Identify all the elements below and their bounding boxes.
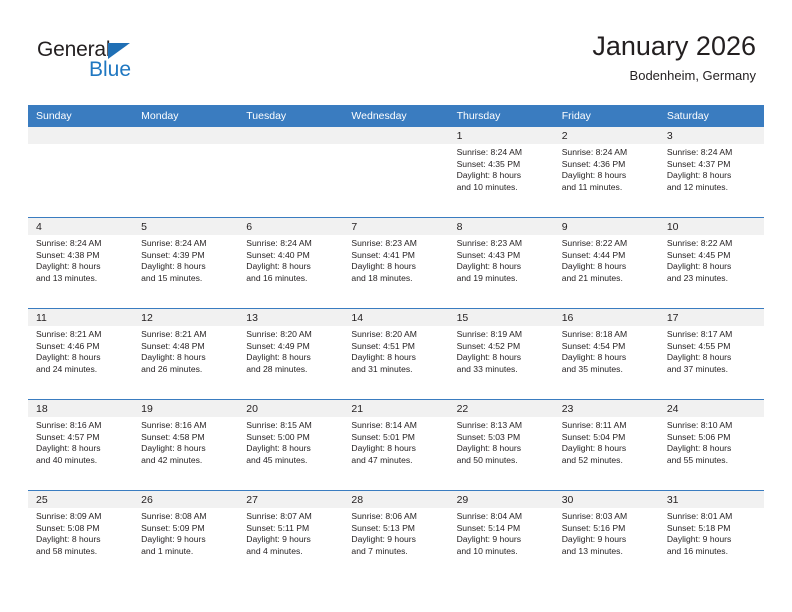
day-details: Sunrise: 8:06 AMSunset: 5:13 PMDaylight:… [343,508,448,557]
sunset-time: Sunset: 5:06 PM [667,432,758,444]
day-cell-inner: 16Sunrise: 8:18 AMSunset: 4:54 PMDayligh… [554,309,659,399]
sunrise-time: Sunrise: 8:20 AM [351,329,442,341]
day-cell-inner: 8Sunrise: 8:23 AMSunset: 4:43 PMDaylight… [449,218,554,308]
calendar-day-cell[interactable]: 26Sunrise: 8:08 AMSunset: 5:09 PMDayligh… [133,491,238,582]
day-number: 12 [133,309,238,326]
daylight-line-1: Daylight: 8 hours [141,261,232,273]
sunrise-time: Sunrise: 8:24 AM [562,147,653,159]
day-number: 30 [554,491,659,508]
day-cell-inner [238,127,343,217]
sunrise-time: Sunrise: 8:24 AM [457,147,548,159]
day-details: Sunrise: 8:24 AMSunset: 4:38 PMDaylight:… [28,235,133,284]
day-cell-inner: 23Sunrise: 8:11 AMSunset: 5:04 PMDayligh… [554,400,659,490]
daylight-line-1: Daylight: 8 hours [457,443,548,455]
sunset-time: Sunset: 5:16 PM [562,523,653,535]
day-number: 19 [133,400,238,417]
calendar-day-cell[interactable]: 27Sunrise: 8:07 AMSunset: 5:11 PMDayligh… [238,491,343,582]
calendar-cell-empty [133,127,238,218]
daylight-line-1: Daylight: 8 hours [667,352,758,364]
sunrise-time: Sunrise: 8:03 AM [562,511,653,523]
daylight-line-1: Daylight: 8 hours [246,261,337,273]
calendar-day-cell[interactable]: 16Sunrise: 8:18 AMSunset: 4:54 PMDayligh… [554,309,659,400]
daylight-line-2: and 50 minutes. [457,455,548,467]
day-cell-inner: 19Sunrise: 8:16 AMSunset: 4:58 PMDayligh… [133,400,238,490]
day-details: Sunrise: 8:11 AMSunset: 5:04 PMDaylight:… [554,417,659,466]
day-details: Sunrise: 8:21 AMSunset: 4:48 PMDaylight:… [133,326,238,375]
sunset-time: Sunset: 4:57 PM [36,432,127,444]
day-details: Sunrise: 8:09 AMSunset: 5:08 PMDaylight:… [28,508,133,557]
calendar-cell-empty [343,127,448,218]
day-details: Sunrise: 8:23 AMSunset: 4:43 PMDaylight:… [449,235,554,284]
calendar-day-cell[interactable]: 22Sunrise: 8:13 AMSunset: 5:03 PMDayligh… [449,400,554,491]
weekday-header-monday: Monday [133,105,238,127]
calendar-day-cell[interactable]: 13Sunrise: 8:20 AMSunset: 4:49 PMDayligh… [238,309,343,400]
day-cell-inner: 10Sunrise: 8:22 AMSunset: 4:45 PMDayligh… [659,218,764,308]
daylight-line-1: Daylight: 8 hours [351,261,442,273]
day-cell-inner [343,127,448,217]
daylight-line-2: and 7 minutes. [351,546,442,558]
day-cell-inner: 29Sunrise: 8:04 AMSunset: 5:14 PMDayligh… [449,491,554,581]
calendar-body: 1Sunrise: 8:24 AMSunset: 4:35 PMDaylight… [28,127,764,581]
day-cell-inner: 2Sunrise: 8:24 AMSunset: 4:36 PMDaylight… [554,127,659,217]
sunrise-time: Sunrise: 8:17 AM [667,329,758,341]
day-cell-inner: 17Sunrise: 8:17 AMSunset: 4:55 PMDayligh… [659,309,764,399]
calendar-header-row: Sunday Monday Tuesday Wednesday Thursday… [28,105,764,127]
sunrise-time: Sunrise: 8:24 AM [667,147,758,159]
day-number: 24 [659,400,764,417]
sunrise-time: Sunrise: 8:11 AM [562,420,653,432]
sunset-time: Sunset: 4:35 PM [457,159,548,171]
day-number: 14 [343,309,448,326]
day-number: 25 [28,491,133,508]
day-details: Sunrise: 8:16 AMSunset: 4:57 PMDaylight:… [28,417,133,466]
calendar-day-cell[interactable]: 5Sunrise: 8:24 AMSunset: 4:39 PMDaylight… [133,218,238,309]
calendar-day-cell[interactable]: 10Sunrise: 8:22 AMSunset: 4:45 PMDayligh… [659,218,764,309]
daylight-line-1: Daylight: 8 hours [667,443,758,455]
page-subtitle: Bodenheim, Germany [592,67,756,85]
weekday-header-wednesday: Wednesday [343,105,448,127]
daylight-line-1: Daylight: 8 hours [457,261,548,273]
daylight-line-1: Daylight: 8 hours [351,443,442,455]
daylight-line-2: and 31 minutes. [351,364,442,376]
sunset-time: Sunset: 4:58 PM [141,432,232,444]
calendar-day-cell[interactable]: 4Sunrise: 8:24 AMSunset: 4:38 PMDaylight… [28,218,133,309]
day-number [238,127,343,144]
day-cell-inner: 26Sunrise: 8:08 AMSunset: 5:09 PMDayligh… [133,491,238,581]
daylight-line-1: Daylight: 8 hours [141,352,232,364]
page-title: January 2026 [592,30,756,62]
day-number [28,127,133,144]
day-number: 15 [449,309,554,326]
day-cell-inner: 25Sunrise: 8:09 AMSunset: 5:08 PMDayligh… [28,491,133,581]
day-cell-inner: 12Sunrise: 8:21 AMSunset: 4:48 PMDayligh… [133,309,238,399]
sunrise-time: Sunrise: 8:18 AM [562,329,653,341]
calendar-day-cell[interactable]: 14Sunrise: 8:20 AMSunset: 4:51 PMDayligh… [343,309,448,400]
daylight-line-2: and 12 minutes. [667,182,758,194]
day-cell-inner: 14Sunrise: 8:20 AMSunset: 4:51 PMDayligh… [343,309,448,399]
sunrise-time: Sunrise: 8:24 AM [246,238,337,250]
calendar-day-cell[interactable]: 24Sunrise: 8:10 AMSunset: 5:06 PMDayligh… [659,400,764,491]
title-block: January 2026 Bodenheim, Germany [592,30,756,85]
sunrise-time: Sunrise: 8:23 AM [457,238,548,250]
daylight-line-2: and 1 minute. [141,546,232,558]
sunrise-time: Sunrise: 8:13 AM [457,420,548,432]
sunset-time: Sunset: 5:00 PM [246,432,337,444]
weekday-header-saturday: Saturday [659,105,764,127]
daylight-line-2: and 55 minutes. [667,455,758,467]
sunset-time: Sunset: 4:37 PM [667,159,758,171]
day-details: Sunrise: 8:22 AMSunset: 4:45 PMDaylight:… [659,235,764,284]
day-details: Sunrise: 8:21 AMSunset: 4:46 PMDaylight:… [28,326,133,375]
day-cell-inner: 22Sunrise: 8:13 AMSunset: 5:03 PMDayligh… [449,400,554,490]
sunrise-time: Sunrise: 8:19 AM [457,329,548,341]
day-cell-inner: 15Sunrise: 8:19 AMSunset: 4:52 PMDayligh… [449,309,554,399]
day-number: 2 [554,127,659,144]
daylight-line-1: Daylight: 9 hours [457,534,548,546]
day-cell-inner: 11Sunrise: 8:21 AMSunset: 4:46 PMDayligh… [28,309,133,399]
sunset-time: Sunset: 4:45 PM [667,250,758,262]
day-number: 16 [554,309,659,326]
sunrise-time: Sunrise: 8:10 AM [667,420,758,432]
daylight-line-2: and 10 minutes. [457,546,548,558]
daylight-line-2: and 58 minutes. [36,546,127,558]
calendar-day-cell[interactable]: 31Sunrise: 8:01 AMSunset: 5:18 PMDayligh… [659,491,764,582]
calendar-week-row: 4Sunrise: 8:24 AMSunset: 4:38 PMDaylight… [28,218,764,309]
calendar-week-row: 11Sunrise: 8:21 AMSunset: 4:46 PMDayligh… [28,309,764,400]
sunset-time: Sunset: 4:55 PM [667,341,758,353]
day-details: Sunrise: 8:14 AMSunset: 5:01 PMDaylight:… [343,417,448,466]
sunset-time: Sunset: 4:54 PM [562,341,653,353]
day-details: Sunrise: 8:04 AMSunset: 5:14 PMDaylight:… [449,508,554,557]
sunset-time: Sunset: 5:08 PM [36,523,127,535]
day-details: Sunrise: 8:20 AMSunset: 4:49 PMDaylight:… [238,326,343,375]
sunrise-time: Sunrise: 8:23 AM [351,238,442,250]
daylight-line-2: and 4 minutes. [246,546,337,558]
day-number: 1 [449,127,554,144]
day-details: Sunrise: 8:17 AMSunset: 4:55 PMDaylight:… [659,326,764,375]
sunrise-time: Sunrise: 8:24 AM [141,238,232,250]
daylight-line-1: Daylight: 8 hours [351,352,442,364]
sunrise-time: Sunrise: 8:15 AM [246,420,337,432]
sunrise-time: Sunrise: 8:24 AM [36,238,127,250]
sunset-time: Sunset: 4:51 PM [351,341,442,353]
day-number: 27 [238,491,343,508]
page-header: General Blue January 2026 Bodenheim, Ger… [0,0,792,104]
calendar-day-cell[interactable]: 18Sunrise: 8:16 AMSunset: 4:57 PMDayligh… [28,400,133,491]
sunrise-time: Sunrise: 8:22 AM [667,238,758,250]
sunset-time: Sunset: 4:41 PM [351,250,442,262]
sunrise-time: Sunrise: 8:16 AM [141,420,232,432]
sunset-time: Sunset: 4:44 PM [562,250,653,262]
day-details: Sunrise: 8:07 AMSunset: 5:11 PMDaylight:… [238,508,343,557]
calendar-day-cell[interactable]: 9Sunrise: 8:22 AMSunset: 4:44 PMDaylight… [554,218,659,309]
calendar-day-cell[interactable]: 2Sunrise: 8:24 AMSunset: 4:36 PMDaylight… [554,127,659,218]
daylight-line-1: Daylight: 9 hours [246,534,337,546]
day-details: Sunrise: 8:18 AMSunset: 4:54 PMDaylight:… [554,326,659,375]
logo-word-blue: Blue [89,58,131,82]
daylight-line-1: Daylight: 8 hours [457,170,548,182]
day-details: Sunrise: 8:24 AMSunset: 4:36 PMDaylight:… [554,144,659,193]
day-number: 17 [659,309,764,326]
sunset-time: Sunset: 5:09 PM [141,523,232,535]
day-number: 23 [554,400,659,417]
day-cell-inner: 4Sunrise: 8:24 AMSunset: 4:38 PMDaylight… [28,218,133,308]
daylight-line-2: and 10 minutes. [457,182,548,194]
daylight-line-2: and 45 minutes. [246,455,337,467]
sunset-time: Sunset: 5:13 PM [351,523,442,535]
daylight-line-1: Daylight: 8 hours [457,352,548,364]
daylight-line-1: Daylight: 8 hours [141,443,232,455]
day-details: Sunrise: 8:24 AMSunset: 4:40 PMDaylight:… [238,235,343,284]
calendar-day-cell[interactable]: 6Sunrise: 8:24 AMSunset: 4:40 PMDaylight… [238,218,343,309]
daylight-line-1: Daylight: 9 hours [351,534,442,546]
sunrise-time: Sunrise: 8:08 AM [141,511,232,523]
sunset-time: Sunset: 5:18 PM [667,523,758,535]
day-details: Sunrise: 8:23 AMSunset: 4:41 PMDaylight:… [343,235,448,284]
sunset-time: Sunset: 4:46 PM [36,341,127,353]
day-number: 26 [133,491,238,508]
day-cell-inner: 6Sunrise: 8:24 AMSunset: 4:40 PMDaylight… [238,218,343,308]
calendar-day-cell[interactable]: 20Sunrise: 8:15 AMSunset: 5:00 PMDayligh… [238,400,343,491]
calendar-day-cell[interactable]: 21Sunrise: 8:14 AMSunset: 5:01 PMDayligh… [343,400,448,491]
day-cell-inner [133,127,238,217]
sunrise-time: Sunrise: 8:04 AM [457,511,548,523]
calendar-grid: Sunday Monday Tuesday Wednesday Thursday… [28,105,764,581]
day-cell-inner: 1Sunrise: 8:24 AMSunset: 4:35 PMDaylight… [449,127,554,217]
daylight-line-1: Daylight: 8 hours [246,352,337,364]
day-number: 7 [343,218,448,235]
daylight-line-2: and 21 minutes. [562,273,653,285]
day-number: 28 [343,491,448,508]
daylight-line-2: and 37 minutes. [667,364,758,376]
daylight-line-2: and 13 minutes. [562,546,653,558]
sunrise-time: Sunrise: 8:20 AM [246,329,337,341]
day-cell-inner: 21Sunrise: 8:14 AMSunset: 5:01 PMDayligh… [343,400,448,490]
day-details: Sunrise: 8:15 AMSunset: 5:00 PMDaylight:… [238,417,343,466]
calendar-day-cell[interactable]: 25Sunrise: 8:09 AMSunset: 5:08 PMDayligh… [28,491,133,582]
daylight-line-2: and 52 minutes. [562,455,653,467]
calendar-day-cell[interactable]: 19Sunrise: 8:16 AMSunset: 4:58 PMDayligh… [133,400,238,491]
calendar-day-cell[interactable]: 3Sunrise: 8:24 AMSunset: 4:37 PMDaylight… [659,127,764,218]
day-number: 13 [238,309,343,326]
day-number: 5 [133,218,238,235]
day-cell-inner: 5Sunrise: 8:24 AMSunset: 4:39 PMDaylight… [133,218,238,308]
day-cell-inner: 30Sunrise: 8:03 AMSunset: 5:16 PMDayligh… [554,491,659,581]
sunrise-time: Sunrise: 8:07 AM [246,511,337,523]
day-details: Sunrise: 8:13 AMSunset: 5:03 PMDaylight:… [449,417,554,466]
daylight-line-1: Daylight: 8 hours [562,170,653,182]
calendar-week-row: 18Sunrise: 8:16 AMSunset: 4:57 PMDayligh… [28,400,764,491]
daylight-line-2: and 16 minutes. [246,273,337,285]
calendar-day-cell[interactable]: 30Sunrise: 8:03 AMSunset: 5:16 PMDayligh… [554,491,659,582]
day-cell-inner: 9Sunrise: 8:22 AMSunset: 4:44 PMDaylight… [554,218,659,308]
daylight-line-2: and 18 minutes. [351,273,442,285]
day-details: Sunrise: 8:08 AMSunset: 5:09 PMDaylight:… [133,508,238,557]
day-cell-inner: 20Sunrise: 8:15 AMSunset: 5:00 PMDayligh… [238,400,343,490]
daylight-line-2: and 15 minutes. [141,273,232,285]
day-number: 3 [659,127,764,144]
sunrise-time: Sunrise: 8:16 AM [36,420,127,432]
daylight-line-1: Daylight: 8 hours [36,534,127,546]
daylight-line-2: and 16 minutes. [667,546,758,558]
daylight-line-2: and 47 minutes. [351,455,442,467]
calendar-day-cell[interactable]: 11Sunrise: 8:21 AMSunset: 4:46 PMDayligh… [28,309,133,400]
daylight-line-1: Daylight: 9 hours [562,534,653,546]
weekday-header-friday: Friday [554,105,659,127]
day-number: 29 [449,491,554,508]
calendar-day-cell[interactable]: 28Sunrise: 8:06 AMSunset: 5:13 PMDayligh… [343,491,448,582]
daylight-line-2: and 26 minutes. [141,364,232,376]
calendar-week-row: 1Sunrise: 8:24 AMSunset: 4:35 PMDaylight… [28,127,764,218]
sunset-time: Sunset: 5:14 PM [457,523,548,535]
sunset-time: Sunset: 4:38 PM [36,250,127,262]
day-number: 9 [554,218,659,235]
calendar-day-cell[interactable]: 8Sunrise: 8:23 AMSunset: 4:43 PMDaylight… [449,218,554,309]
sunrise-time: Sunrise: 8:21 AM [36,329,127,341]
day-details: Sunrise: 8:24 AMSunset: 4:35 PMDaylight:… [449,144,554,193]
day-number: 20 [238,400,343,417]
daylight-line-1: Daylight: 8 hours [562,443,653,455]
day-cell-inner: 31Sunrise: 8:01 AMSunset: 5:18 PMDayligh… [659,491,764,581]
sunrise-time: Sunrise: 8:01 AM [667,511,758,523]
day-cell-inner: 24Sunrise: 8:10 AMSunset: 5:06 PMDayligh… [659,400,764,490]
day-number: 4 [28,218,133,235]
day-number: 22 [449,400,554,417]
calendar-day-cell[interactable]: 23Sunrise: 8:11 AMSunset: 5:04 PMDayligh… [554,400,659,491]
sunrise-time: Sunrise: 8:06 AM [351,511,442,523]
day-number: 31 [659,491,764,508]
calendar-week-row: 25Sunrise: 8:09 AMSunset: 5:08 PMDayligh… [28,491,764,582]
daylight-line-1: Daylight: 8 hours [246,443,337,455]
day-number [133,127,238,144]
sunset-time: Sunset: 4:48 PM [141,341,232,353]
calendar-day-cell[interactable]: 15Sunrise: 8:19 AMSunset: 4:52 PMDayligh… [449,309,554,400]
sunset-time: Sunset: 5:04 PM [562,432,653,444]
day-cell-inner: 13Sunrise: 8:20 AMSunset: 4:49 PMDayligh… [238,309,343,399]
day-details: Sunrise: 8:20 AMSunset: 4:51 PMDaylight:… [343,326,448,375]
daylight-line-1: Daylight: 9 hours [667,534,758,546]
calendar-page: General Blue January 2026 Bodenheim, Ger… [0,0,792,612]
daylight-line-2: and 40 minutes. [36,455,127,467]
sunrise-time: Sunrise: 8:21 AM [141,329,232,341]
calendar-day-cell[interactable]: 12Sunrise: 8:21 AMSunset: 4:48 PMDayligh… [133,309,238,400]
weekday-header-thursday: Thursday [449,105,554,127]
sunrise-time: Sunrise: 8:09 AM [36,511,127,523]
weekday-header-tuesday: Tuesday [238,105,343,127]
day-number: 6 [238,218,343,235]
day-number: 8 [449,218,554,235]
triangle-icon [108,43,130,59]
day-details: Sunrise: 8:16 AMSunset: 4:58 PMDaylight:… [133,417,238,466]
sunset-time: Sunset: 4:36 PM [562,159,653,171]
day-details: Sunrise: 8:10 AMSunset: 5:06 PMDaylight:… [659,417,764,466]
calendar-day-cell[interactable]: 29Sunrise: 8:04 AMSunset: 5:14 PMDayligh… [449,491,554,582]
day-cell-inner: 27Sunrise: 8:07 AMSunset: 5:11 PMDayligh… [238,491,343,581]
daylight-line-2: and 13 minutes. [36,273,127,285]
daylight-line-2: and 35 minutes. [562,364,653,376]
daylight-line-2: and 19 minutes. [457,273,548,285]
calendar-day-cell[interactable]: 7Sunrise: 8:23 AMSunset: 4:41 PMDaylight… [343,218,448,309]
day-cell-inner: 7Sunrise: 8:23 AMSunset: 4:41 PMDaylight… [343,218,448,308]
day-number: 21 [343,400,448,417]
sunset-time: Sunset: 4:43 PM [457,250,548,262]
general-blue-logo[interactable]: General Blue [37,38,237,88]
day-cell-inner [28,127,133,217]
sunset-time: Sunset: 4:52 PM [457,341,548,353]
daylight-line-2: and 23 minutes. [667,273,758,285]
day-cell-inner: 18Sunrise: 8:16 AMSunset: 4:57 PMDayligh… [28,400,133,490]
calendar-cell-empty [28,127,133,218]
daylight-line-1: Daylight: 8 hours [667,170,758,182]
daylight-line-2: and 28 minutes. [246,364,337,376]
daylight-line-1: Daylight: 9 hours [141,534,232,546]
sunset-time: Sunset: 5:11 PM [246,523,337,535]
sunset-time: Sunset: 4:39 PM [141,250,232,262]
weekday-header-sunday: Sunday [28,105,133,127]
day-number: 18 [28,400,133,417]
daylight-line-1: Daylight: 8 hours [36,261,127,273]
calendar-day-cell[interactable]: 1Sunrise: 8:24 AMSunset: 4:35 PMDaylight… [449,127,554,218]
day-number: 10 [659,218,764,235]
daylight-line-2: and 33 minutes. [457,364,548,376]
daylight-line-1: Daylight: 8 hours [562,352,653,364]
daylight-line-1: Daylight: 8 hours [36,443,127,455]
day-details: Sunrise: 8:19 AMSunset: 4:52 PMDaylight:… [449,326,554,375]
day-cell-inner: 3Sunrise: 8:24 AMSunset: 4:37 PMDaylight… [659,127,764,217]
day-details: Sunrise: 8:03 AMSunset: 5:16 PMDaylight:… [554,508,659,557]
daylight-line-1: Daylight: 8 hours [36,352,127,364]
calendar-day-cell[interactable]: 17Sunrise: 8:17 AMSunset: 4:55 PMDayligh… [659,309,764,400]
sunset-time: Sunset: 5:01 PM [351,432,442,444]
calendar-cell-empty [238,127,343,218]
day-details: Sunrise: 8:01 AMSunset: 5:18 PMDaylight:… [659,508,764,557]
day-number: 11 [28,309,133,326]
day-details: Sunrise: 8:24 AMSunset: 4:39 PMDaylight:… [133,235,238,284]
sunrise-time: Sunrise: 8:22 AM [562,238,653,250]
daylight-line-2: and 42 minutes. [141,455,232,467]
sunset-time: Sunset: 4:40 PM [246,250,337,262]
sunrise-time: Sunrise: 8:14 AM [351,420,442,432]
sunset-time: Sunset: 4:49 PM [246,341,337,353]
daylight-line-1: Daylight: 8 hours [562,261,653,273]
day-cell-inner: 28Sunrise: 8:06 AMSunset: 5:13 PMDayligh… [343,491,448,581]
day-number [343,127,448,144]
daylight-line-2: and 11 minutes. [562,182,653,194]
day-details: Sunrise: 8:22 AMSunset: 4:44 PMDaylight:… [554,235,659,284]
day-details: Sunrise: 8:24 AMSunset: 4:37 PMDaylight:… [659,144,764,193]
daylight-line-1: Daylight: 8 hours [667,261,758,273]
daylight-line-2: and 24 minutes. [36,364,127,376]
sunset-time: Sunset: 5:03 PM [457,432,548,444]
